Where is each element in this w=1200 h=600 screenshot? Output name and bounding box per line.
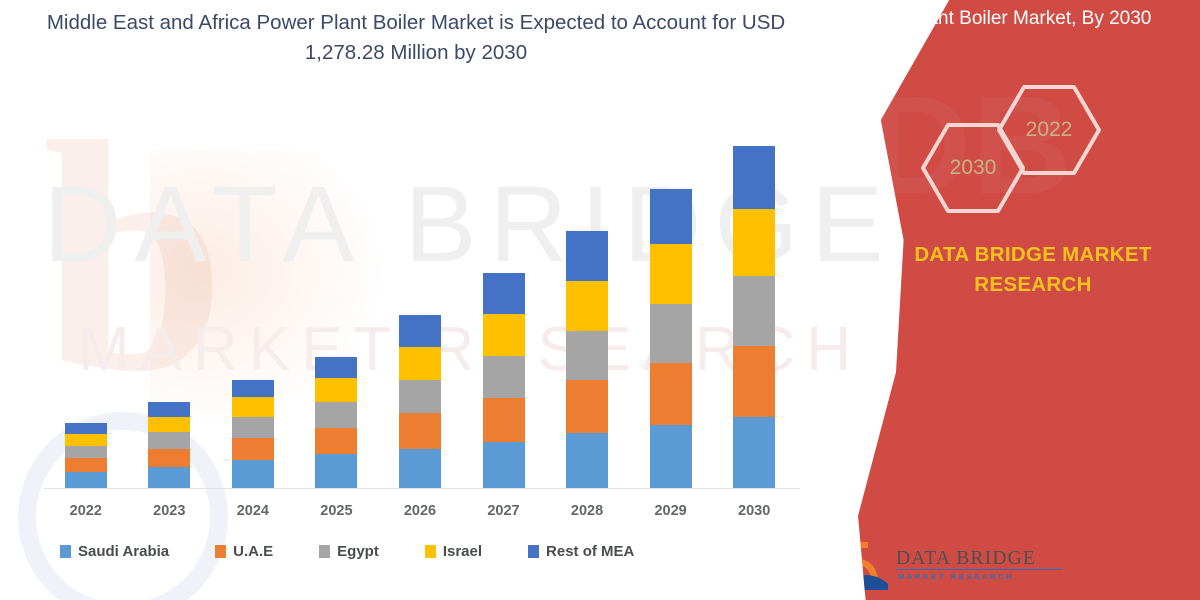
legend-swatch-icon — [425, 545, 436, 558]
x-axis-label-2024: 2024 — [214, 503, 292, 519]
bar-segment-saudi-arabia[interactable] — [566, 433, 608, 488]
legend-swatch-icon — [215, 545, 226, 558]
bar-segment-u-a-e[interactable] — [650, 363, 692, 424]
bar-segment-rest-of-mea[interactable] — [650, 189, 692, 245]
bar-segment-u-a-e[interactable] — [65, 458, 107, 471]
logo-tagline: MARKET RESEARCH — [898, 572, 1014, 581]
bar-segment-rest-of-mea[interactable] — [232, 380, 274, 397]
legend-item-israel[interactable]: Israel — [425, 543, 482, 560]
x-axis-labels: 202220232024202520262027202820292030 — [44, 498, 796, 524]
bar-group-2027[interactable] — [465, 104, 543, 488]
bar-segment-u-a-e[interactable] — [733, 346, 775, 417]
x-axis-label-2022: 2022 — [47, 503, 125, 519]
legend-label: Saudi Arabia — [78, 543, 169, 560]
bar-segment-egypt[interactable] — [483, 356, 525, 398]
bar-segment-saudi-arabia[interactable] — [483, 442, 525, 488]
bar-segment-egypt[interactable] — [315, 402, 357, 428]
bar-segment-israel[interactable] — [733, 209, 775, 276]
bar-segment-saudi-arabia[interactable] — [399, 449, 441, 488]
x-axis-label-2023: 2023 — [130, 503, 208, 519]
bar-group-2023[interactable] — [130, 104, 208, 488]
x-axis-label-2026: 2026 — [381, 503, 459, 519]
bar-segment-u-a-e[interactable] — [483, 398, 525, 442]
x-axis-label-2029: 2029 — [632, 503, 710, 519]
page-title: Middle East and Africa Power Plant Boile… — [46, 8, 786, 68]
bar-segment-israel[interactable] — [483, 314, 525, 355]
bar-segment-u-a-e[interactable] — [315, 428, 357, 455]
stacked-bar[interactable] — [65, 423, 107, 488]
bar-segment-saudi-arabia[interactable] — [148, 467, 190, 488]
bar-group-2028[interactable] — [548, 104, 626, 488]
infographic-page: b DATA BRIDGE MARKET RESEARCH Middle Eas… — [0, 0, 1200, 600]
panel-title: Plant Boiler Market, By 2030 — [820, 8, 1200, 30]
bar-segment-u-a-e[interactable] — [566, 380, 608, 433]
bar-segment-egypt[interactable] — [733, 276, 775, 346]
legend-label: Egypt — [337, 543, 379, 560]
stacked-bar[interactable] — [483, 273, 525, 488]
hexagon-2022-label: 2022 — [1026, 118, 1073, 142]
hexagon-2030: 2030 — [918, 120, 1028, 216]
bar-group-2022[interactable] — [47, 104, 125, 488]
bar-group-2026[interactable] — [381, 104, 459, 488]
bar-segment-rest-of-mea[interactable] — [399, 315, 441, 347]
dbmr-logo: DATA BRIDGE MARKET RESEARCH — [838, 526, 1068, 600]
bar-segment-egypt[interactable] — [148, 432, 190, 448]
stacked-bar[interactable] — [315, 357, 357, 488]
bar-segment-saudi-arabia[interactable] — [650, 425, 692, 488]
bar-segment-saudi-arabia[interactable] — [232, 460, 274, 488]
stacked-bar[interactable] — [650, 189, 692, 489]
bar-group-2024[interactable] — [214, 104, 292, 488]
brand-line-1: DATA BRIDGE MARKET — [866, 240, 1200, 270]
legend-swatch-icon — [319, 545, 330, 558]
bar-segment-israel[interactable] — [148, 417, 190, 432]
x-axis-label-2030: 2030 — [715, 503, 793, 519]
legend-label: Israel — [443, 543, 482, 560]
bar-segment-u-a-e[interactable] — [399, 413, 441, 449]
legend-swatch-icon — [528, 545, 539, 558]
chart-plot-area — [44, 104, 796, 488]
stacked-bar[interactable] — [399, 315, 441, 488]
bar-segment-u-a-e[interactable] — [232, 438, 274, 460]
chart-legend: Saudi ArabiaU.A.EEgyptIsraelRest of MEA — [60, 538, 780, 564]
bar-segment-israel[interactable] — [65, 434, 107, 446]
bar-segment-saudi-arabia[interactable] — [65, 472, 107, 488]
bar-segment-israel[interactable] — [399, 347, 441, 380]
bar-segment-saudi-arabia[interactable] — [733, 417, 775, 488]
legend-label: Rest of MEA — [546, 543, 634, 560]
bar-group-2025[interactable] — [297, 104, 375, 488]
bar-segment-egypt[interactable] — [650, 304, 692, 364]
bar-segment-israel[interactable] — [315, 378, 357, 402]
brand-line-2: RESEARCH — [866, 270, 1200, 300]
bar-chart — [44, 104, 796, 488]
x-axis-label-2027: 2027 — [465, 503, 543, 519]
bar-segment-egypt[interactable] — [566, 331, 608, 381]
bar-segment-rest-of-mea[interactable] — [315, 357, 357, 377]
bar-group-2029[interactable] — [632, 104, 710, 488]
bar-segment-israel[interactable] — [650, 244, 692, 304]
bar-segment-egypt[interactable] — [232, 417, 274, 438]
legend-item-u-a-e[interactable]: U.A.E — [215, 543, 273, 560]
bar-segment-rest-of-mea[interactable] — [148, 402, 190, 417]
hexagon-group: 2022 2030 — [890, 82, 1180, 222]
bar-segment-saudi-arabia[interactable] — [315, 454, 357, 488]
legend-item-saudi-arabia[interactable]: Saudi Arabia — [60, 543, 169, 560]
bar-segment-egypt[interactable] — [399, 380, 441, 414]
bar-segment-rest-of-mea[interactable] — [65, 423, 107, 435]
x-axis-label-2028: 2028 — [548, 503, 626, 519]
legend-item-egypt[interactable]: Egypt — [319, 543, 379, 560]
brand-name: DATA BRIDGE MARKET RESEARCH — [820, 240, 1200, 300]
stacked-bar[interactable] — [148, 402, 190, 488]
bar-segment-u-a-e[interactable] — [148, 449, 190, 467]
stacked-bar[interactable] — [232, 380, 274, 488]
bar-group-2030[interactable] — [715, 104, 793, 488]
stacked-bar[interactable] — [566, 231, 608, 488]
bar-segment-israel[interactable] — [566, 281, 608, 331]
bar-segment-israel[interactable] — [232, 397, 274, 417]
stacked-bar[interactable] — [733, 146, 775, 488]
bar-segment-egypt[interactable] — [65, 446, 107, 458]
hexagon-2030-label: 2030 — [950, 156, 997, 180]
bar-segment-rest-of-mea[interactable] — [566, 231, 608, 281]
x-axis-label-2025: 2025 — [297, 503, 375, 519]
legend-swatch-icon — [60, 545, 71, 558]
data-bridge-mark-icon — [838, 538, 890, 590]
right-brand-panel: DB Plant Boiler Market, By 2030 2022 203… — [820, 0, 1200, 600]
legend-label: U.A.E — [233, 543, 273, 560]
legend-item-rest-of-mea[interactable]: Rest of MEA — [528, 543, 634, 560]
bar-segment-rest-of-mea[interactable] — [483, 273, 525, 314]
bar-segment-rest-of-mea[interactable] — [733, 146, 775, 208]
logo-name: DATA BRIDGE — [896, 548, 1036, 570]
x-axis-line — [44, 488, 800, 489]
